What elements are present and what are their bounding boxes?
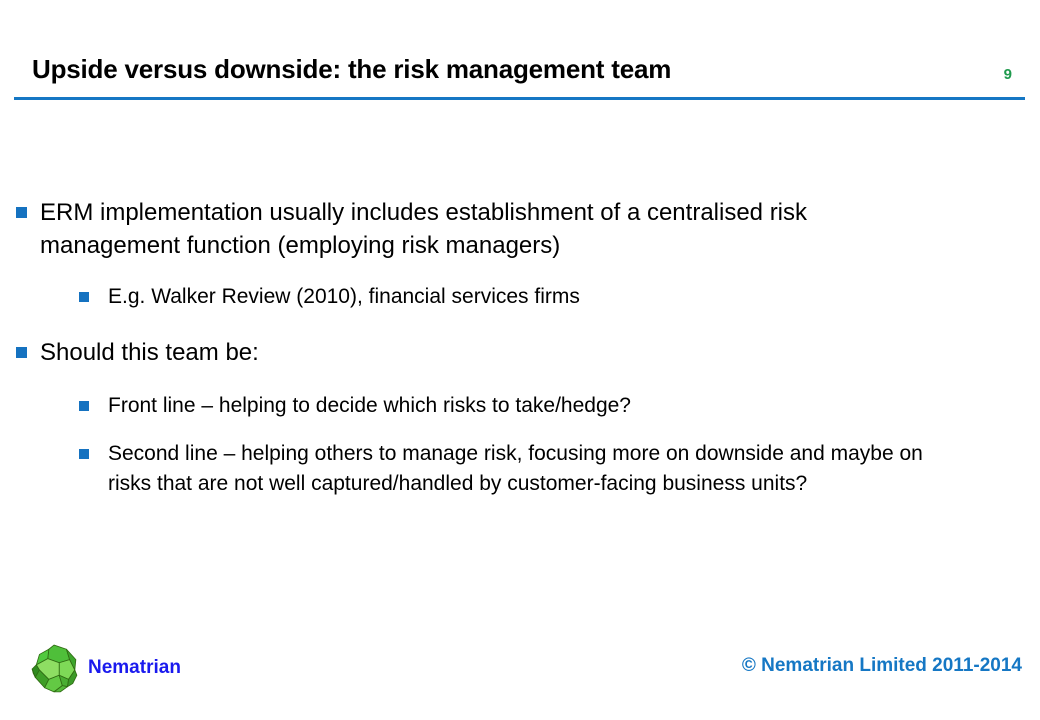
title-divider bbox=[14, 97, 1025, 100]
spacer bbox=[0, 421, 1040, 439]
bullet-square-icon bbox=[79, 449, 89, 459]
bullet-level2: Second line – helping others to manage r… bbox=[108, 439, 960, 499]
page-title: Upside versus downside: the risk managem… bbox=[32, 54, 671, 85]
bullet-level1: Should this team be: bbox=[40, 336, 922, 369]
bullet-square-icon bbox=[16, 347, 27, 358]
slide-body: ERM implementation usually includes esta… bbox=[0, 196, 1040, 499]
brand-name: Nematrian bbox=[88, 657, 181, 679]
polyhedron-logo-icon bbox=[28, 643, 80, 695]
spacer bbox=[0, 262, 1040, 282]
bullet-square-icon bbox=[16, 207, 27, 218]
bullet-level1: ERM implementation usually includes esta… bbox=[40, 196, 922, 262]
bullet-text: Second line – helping others to manage r… bbox=[108, 439, 960, 499]
bullet-text: ERM implementation usually includes esta… bbox=[40, 196, 922, 262]
presentation-slide: Upside versus downside: the risk managem… bbox=[0, 0, 1040, 720]
bullet-level2: E.g. Walker Review (2010), financial ser… bbox=[108, 282, 960, 312]
bullet-text: E.g. Walker Review (2010), financial ser… bbox=[108, 282, 960, 312]
copyright-notice: © Nematrian Limited 2011-2014 bbox=[742, 655, 1022, 677]
bullet-text: Front line – helping to decide which ris… bbox=[108, 391, 960, 421]
spacer bbox=[0, 312, 1040, 336]
bullet-square-icon bbox=[79, 292, 89, 302]
bullet-level2: Front line – helping to decide which ris… bbox=[108, 391, 960, 421]
page-number: 9 bbox=[1004, 66, 1012, 83]
bullet-text: Should this team be: bbox=[40, 336, 922, 369]
bullet-square-icon bbox=[79, 401, 89, 411]
spacer bbox=[0, 369, 1040, 391]
